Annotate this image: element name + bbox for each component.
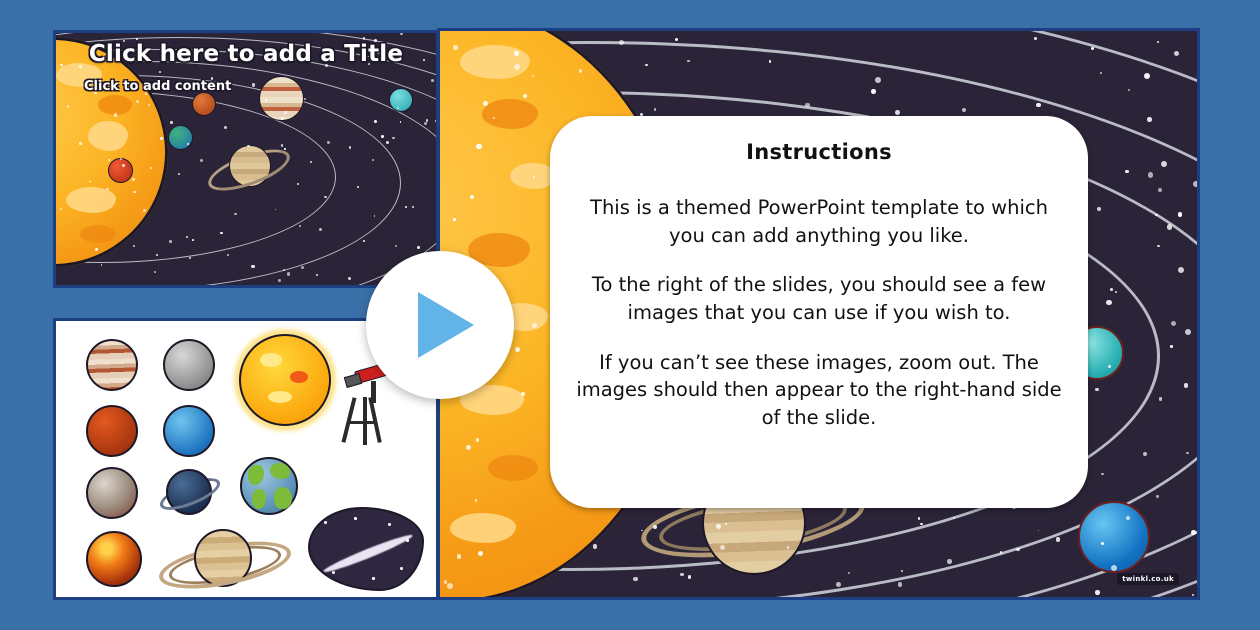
star bbox=[412, 206, 414, 208]
play-button[interactable] bbox=[366, 251, 514, 399]
star bbox=[132, 178, 135, 181]
star bbox=[1178, 212, 1183, 217]
star bbox=[324, 196, 327, 199]
star bbox=[281, 117, 284, 120]
star bbox=[476, 438, 479, 441]
clipart-pluto bbox=[86, 467, 138, 519]
clipart-dark-saturn bbox=[152, 461, 228, 527]
star bbox=[1095, 590, 1100, 595]
instructions-paragraph-2: To the right of the slides, you should s… bbox=[576, 271, 1062, 326]
planet-neptune bbox=[1078, 501, 1150, 573]
star bbox=[1126, 516, 1130, 520]
star bbox=[363, 240, 365, 242]
star bbox=[633, 577, 637, 581]
star bbox=[1191, 530, 1196, 535]
solar-system-scene-thumb: Click here to add a Title Click to add c… bbox=[56, 33, 436, 285]
star bbox=[901, 570, 903, 572]
star bbox=[466, 445, 471, 450]
star bbox=[400, 33, 402, 35]
star bbox=[133, 191, 135, 193]
planet-venus bbox=[108, 158, 133, 183]
star bbox=[579, 69, 583, 73]
star bbox=[327, 141, 330, 144]
planet-mars bbox=[192, 92, 216, 116]
star bbox=[1000, 551, 1003, 554]
star bbox=[431, 79, 434, 82]
star bbox=[159, 71, 161, 73]
instructions-paragraph-1: This is a themed PowerPoint template to … bbox=[576, 194, 1062, 249]
star bbox=[1100, 72, 1102, 74]
star bbox=[898, 582, 902, 586]
star bbox=[169, 240, 172, 243]
star bbox=[395, 245, 397, 247]
star bbox=[619, 40, 624, 45]
star bbox=[453, 45, 457, 49]
clipart-lava-planet bbox=[86, 531, 142, 587]
star bbox=[1155, 214, 1157, 216]
star bbox=[1157, 41, 1159, 43]
clipart-sun bbox=[234, 329, 336, 431]
star bbox=[532, 323, 537, 328]
star bbox=[310, 161, 312, 163]
star bbox=[1110, 288, 1113, 291]
star bbox=[687, 60, 690, 63]
star bbox=[1158, 188, 1162, 192]
star bbox=[654, 108, 656, 110]
star bbox=[143, 209, 145, 211]
star bbox=[1167, 224, 1173, 230]
star bbox=[435, 120, 436, 122]
preview-stage: Click here to add a Title Click to add c… bbox=[0, 0, 1260, 630]
star bbox=[962, 108, 966, 112]
star bbox=[372, 159, 374, 161]
title-slide-thumbnail[interactable]: Click here to add a Title Click to add c… bbox=[53, 30, 439, 288]
star bbox=[457, 554, 461, 558]
clipart-moon bbox=[163, 339, 215, 391]
star bbox=[875, 77, 881, 83]
instructions-slide[interactable]: twinkl.co.uk Instructions This is a them… bbox=[437, 28, 1200, 600]
star bbox=[836, 582, 841, 587]
star bbox=[483, 101, 488, 106]
star bbox=[1170, 345, 1173, 348]
star bbox=[1101, 473, 1103, 475]
star bbox=[192, 239, 194, 241]
star bbox=[947, 559, 952, 564]
star bbox=[227, 254, 229, 256]
slide-title: Click here to add a Title bbox=[56, 41, 436, 67]
star bbox=[476, 144, 481, 149]
star bbox=[1108, 365, 1111, 368]
star bbox=[357, 186, 359, 188]
star bbox=[1193, 181, 1197, 187]
star bbox=[150, 167, 152, 169]
instructions-card: Instructions This is a themed PowerPoint… bbox=[550, 116, 1088, 508]
star bbox=[417, 246, 420, 249]
star bbox=[386, 141, 389, 144]
star bbox=[1101, 542, 1104, 545]
clipart-neptune bbox=[163, 405, 215, 457]
star bbox=[284, 111, 287, 114]
planet-uranus bbox=[389, 88, 413, 112]
star bbox=[453, 218, 456, 221]
star bbox=[79, 142, 82, 145]
star bbox=[1174, 51, 1179, 56]
star bbox=[1095, 388, 1099, 392]
star bbox=[1148, 172, 1154, 178]
star bbox=[252, 83, 255, 86]
star bbox=[189, 257, 191, 259]
star bbox=[593, 544, 597, 548]
star bbox=[1178, 267, 1184, 273]
star bbox=[1056, 537, 1060, 541]
clipart-mars bbox=[86, 405, 138, 457]
star bbox=[363, 37, 366, 40]
star bbox=[805, 103, 810, 108]
instructions-paragraph-3: If you can’t see these images, zoom out.… bbox=[576, 349, 1062, 432]
star bbox=[287, 272, 290, 275]
clipart-jupiter bbox=[86, 339, 138, 391]
star bbox=[136, 100, 139, 103]
star bbox=[186, 236, 188, 238]
star bbox=[397, 107, 399, 109]
play-triangle-icon bbox=[418, 292, 474, 358]
slide-subtitle: Click to add content bbox=[84, 79, 231, 94]
clipart-galaxy-asteroid bbox=[308, 507, 424, 591]
star bbox=[1161, 161, 1167, 167]
star bbox=[645, 64, 648, 67]
star bbox=[514, 51, 519, 56]
star bbox=[478, 551, 483, 556]
star bbox=[1125, 170, 1128, 173]
star bbox=[680, 573, 683, 576]
star bbox=[67, 105, 70, 108]
star bbox=[515, 347, 521, 353]
star bbox=[299, 225, 301, 227]
star bbox=[392, 137, 394, 139]
star bbox=[108, 159, 110, 161]
star bbox=[769, 60, 772, 63]
star bbox=[251, 265, 254, 268]
star bbox=[114, 113, 117, 116]
clipart-earth-landmass bbox=[240, 457, 298, 515]
planet-earth bbox=[168, 125, 193, 150]
star bbox=[1156, 495, 1158, 497]
watermark: twinkl.co.uk bbox=[1117, 573, 1179, 585]
star bbox=[60, 208, 62, 210]
star bbox=[1111, 565, 1117, 571]
star bbox=[224, 126, 227, 129]
star bbox=[160, 137, 163, 140]
star bbox=[120, 158, 122, 160]
star bbox=[514, 64, 520, 70]
star bbox=[447, 583, 453, 589]
star bbox=[1192, 594, 1194, 596]
instructions-heading: Instructions bbox=[576, 140, 1062, 164]
star bbox=[1147, 117, 1151, 121]
clipart-saturn bbox=[156, 521, 296, 597]
